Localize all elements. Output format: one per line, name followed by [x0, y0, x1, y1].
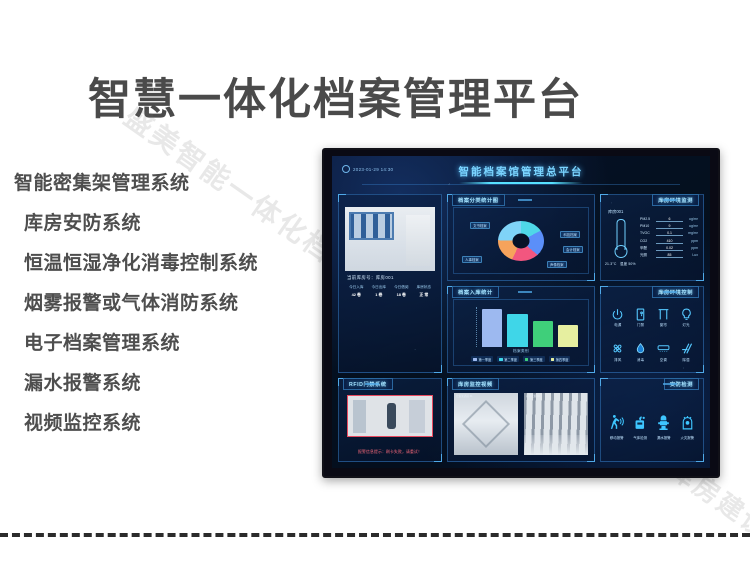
- surveillance-feeds: 密集架通道 01 库房走廊 02: [454, 393, 588, 455]
- control-label: 电源: [614, 322, 621, 327]
- control-label: 灯光: [683, 322, 690, 327]
- security-motion[interactable]: 移动报警: [605, 413, 629, 440]
- control-label: 消毒: [637, 357, 644, 362]
- room-photo: [345, 207, 435, 271]
- env-unit: ug/m³: [683, 217, 698, 221]
- bar: [533, 321, 553, 347]
- bar: [507, 314, 527, 347]
- dashboard-header: 2023-01-29 14:30 智能档案馆管理总平台: [332, 156, 710, 192]
- stat-key: 库房状态: [413, 285, 436, 290]
- env-reading-row: 甲醛 0.02 ppm: [640, 246, 698, 251]
- page-title: 智慧一体化档案管理平台: [88, 65, 688, 127]
- env-value: 9: [656, 224, 683, 229]
- panel-tick: [663, 383, 677, 385]
- temperature-value: 21.3°C: [605, 262, 617, 266]
- control-label: 窗帘: [660, 322, 667, 327]
- storage-chart-area: 档案类别 第一季度 第二季度 第三季度 第四季度: [453, 299, 589, 366]
- env-reading-row: PM2.5 6 ug/m³: [640, 217, 698, 222]
- legend-entry: 第二季度: [497, 356, 519, 362]
- env-value: 0.02: [656, 246, 683, 251]
- camera-feed-2[interactable]: 库房走廊 02: [524, 393, 588, 455]
- temperature-humidity: 21.3°C 湿度 50%: [605, 261, 636, 266]
- env-reading-row: TVOC 0.1 mg/m³: [640, 231, 698, 236]
- env-unit: ppm: [683, 246, 698, 250]
- door-right: [409, 400, 426, 434]
- env-reading-row: PM10 9 ug/m³: [640, 224, 698, 229]
- env-name: TVOC: [640, 231, 656, 235]
- donut-label: 声像档案: [547, 261, 567, 268]
- thermometer-bulb: [615, 245, 628, 258]
- env-name: 甲醛: [640, 246, 656, 251]
- monitor-frame: 2023-01-29 14:30 智能档案馆管理总平台 档案分类统计图 文书档案…: [322, 148, 720, 478]
- stat-key: 今日入库: [345, 285, 368, 290]
- legend-entry: 第三季度: [523, 356, 545, 362]
- panel-storage-stats: 档案入库统计 档案类别 第一季度 第二季度 第三季度 第四季度: [447, 286, 595, 373]
- security-label: 火灾报警: [680, 435, 694, 440]
- ac-icon: [657, 342, 670, 355]
- feature-item: 烟雾报警或气体消防系统: [14, 294, 334, 313]
- dashboard-title: 智能档案馆管理总平台: [332, 164, 710, 179]
- control-label: 除湿: [683, 357, 690, 362]
- control-power[interactable]: 电源: [607, 301, 629, 334]
- stat-key: 今日出库: [368, 285, 391, 290]
- panel-tick: [518, 291, 532, 293]
- bar: [482, 309, 502, 347]
- legend-label: 第三季度: [530, 357, 543, 362]
- humidity-icon: [634, 342, 647, 355]
- feature-item: 视频监控系统: [14, 414, 334, 433]
- panel-env-control: 库房环境控制 电源 门禁: [600, 286, 704, 373]
- light-icon: [680, 308, 693, 321]
- env-value: 410: [656, 239, 683, 244]
- control-label: 门禁: [637, 322, 644, 327]
- env-value: 0.1: [656, 231, 683, 236]
- fire-alarm-icon: [679, 413, 696, 432]
- legend-label: 第四季度: [556, 357, 569, 362]
- donut-label: 文书档案: [470, 222, 490, 229]
- panel-room-overview: 当前库房号：库房001 今日入库 42 卷 今日出库 1 卷 今日借阅 18 卷: [338, 194, 442, 373]
- env-name: CO2: [640, 239, 656, 243]
- panel-tick: [365, 383, 379, 385]
- bar: [558, 325, 578, 348]
- donut-ring: [498, 221, 544, 261]
- security-label: 气体检测: [633, 435, 647, 440]
- water-leak-icon: [655, 413, 672, 432]
- camera-label: 库房走廊 02: [526, 394, 540, 398]
- feature-list: 智能密集架管理系统 库房安防系统 恒温恒湿净化消毒控制系统 烟雾报警或气体消防系…: [14, 174, 334, 454]
- humidity-value: 湿度 50%: [620, 262, 636, 266]
- legend-label: 第二季度: [504, 357, 517, 362]
- panel-title-surveillance: 库房监控视频: [452, 378, 499, 390]
- security-fire-alarm[interactable]: 火灾报警: [675, 413, 699, 440]
- feature-item: 漏水报警系统: [14, 374, 334, 393]
- panel-rfid: RFID门禁系统 报警信息提示：刷卡失败，请重试！: [338, 378, 442, 462]
- stat-item: 今日借阅 18 卷: [390, 285, 413, 298]
- control-grid: 电源 门禁 窗帘: [607, 301, 697, 368]
- security-gas[interactable]: 气体检测: [628, 413, 652, 440]
- feature-item: 电子档案管理系统: [14, 334, 334, 353]
- door-access-icon: [634, 308, 647, 321]
- legend-label: 第一季度: [478, 357, 491, 362]
- panel-tick: [518, 199, 532, 201]
- env-unit: mg/m³: [683, 231, 698, 235]
- control-door-access[interactable]: 门禁: [630, 301, 652, 334]
- stat-item: 库房状态 正 常: [413, 285, 436, 298]
- corridor-view: [454, 393, 518, 455]
- stat-value: 42 卷: [345, 292, 368, 298]
- rfid-camera-feed[interactable]: [347, 395, 433, 437]
- env-name: 光照: [640, 253, 656, 258]
- env-room-label: 库房001: [608, 209, 623, 215]
- env-unit: ppm: [683, 239, 698, 243]
- door-left: [353, 400, 366, 434]
- dashboard-screen: 2023-01-29 14:30 智能档案馆管理总平台 档案分类统计图 文书档案…: [332, 156, 710, 468]
- security-label: 漏水报警: [657, 435, 671, 440]
- control-light[interactable]: 灯光: [675, 301, 697, 334]
- env-reading-row: 光照 85 Lux: [640, 253, 698, 258]
- control-disinfect[interactable]: 消毒: [630, 335, 652, 368]
- room-stats: 今日入库 42 卷 今日出库 1 卷 今日借阅 18 卷 库房状态 正 常: [345, 285, 435, 298]
- control-curtain[interactable]: 窗帘: [652, 301, 674, 334]
- panel-surveillance: 库房监控视频 密集架通道 01 库房走廊 02: [447, 378, 595, 462]
- motion-sensor-icon: [608, 413, 625, 432]
- security-water-leak[interactable]: 漏水报警: [652, 413, 676, 440]
- donut-label: 科技档案: [560, 231, 580, 238]
- stat-value: 正 常: [413, 292, 436, 298]
- camera-feed-1[interactable]: 密集架通道 01: [454, 393, 518, 455]
- env-value: 6: [656, 217, 683, 222]
- panel-env-monitor: 库房环境监测 库房001 21.3°C 湿度 50% PM2.5 6 ug: [600, 194, 704, 281]
- panel-title-storage: 档案入库统计: [452, 286, 499, 298]
- curtain-icon: [657, 308, 670, 321]
- stat-key: 今日借阅: [390, 285, 413, 290]
- dashboard-grid: 档案分类统计图 文书档案 科技档案 会计档案 人事档案 声像档案 当前库房号：: [338, 194, 704, 462]
- panel-classification: 档案分类统计图 文书档案 科技档案 会计档案 人事档案 声像档案: [447, 194, 595, 281]
- panel-tick: [663, 199, 677, 201]
- bar-chart[interactable]: [476, 307, 578, 347]
- env-name: PM10: [640, 224, 656, 228]
- legend-entry: 第四季度: [549, 356, 571, 362]
- bar-xlabel: 档案类别: [454, 349, 588, 354]
- env-reading-row: CO2 410 ppm: [640, 239, 698, 244]
- stat-value: 1 卷: [368, 292, 391, 298]
- person-figure: [387, 403, 396, 429]
- dashed-divider: [0, 533, 750, 537]
- panel-title-classification: 档案分类统计图: [452, 194, 505, 206]
- camera-label: 密集架通道 01: [456, 394, 473, 398]
- control-ac[interactable]: 空调: [652, 335, 674, 368]
- env-name: PM2.5: [640, 217, 656, 221]
- room-caption: 当前库房号：库房001: [347, 275, 394, 281]
- rfid-alert-text: 报警信息提示：刷卡失败，请重试！: [345, 450, 435, 455]
- fan-icon: [611, 342, 624, 355]
- control-fan[interactable]: 排风: [607, 335, 629, 368]
- title-underline: [459, 182, 583, 184]
- donut-chart[interactable]: 文书档案 科技档案 会计档案 人事档案 声像档案: [454, 208, 588, 273]
- panel-tick: [663, 291, 677, 293]
- power-icon: [611, 308, 624, 321]
- env-unit: ug/m³: [683, 224, 698, 228]
- shelving-view: [524, 393, 588, 455]
- thermometer-icon: [615, 219, 628, 259]
- security-label: 移动报警: [610, 435, 624, 440]
- classification-chart-area: 文书档案 科技档案 会计档案 人事档案 声像档案: [453, 207, 589, 274]
- env-unit: Lux: [683, 253, 698, 257]
- feature-item: 库房安防系统: [14, 214, 334, 233]
- control-label: 空调: [660, 357, 667, 362]
- panel-security-detect: 安防检测 移动报警: [600, 378, 704, 462]
- donut-label: 会计档案: [563, 246, 583, 253]
- legend-entry: 第一季度: [471, 356, 493, 362]
- stat-value: 18 卷: [390, 292, 413, 298]
- dehumidify-icon: [680, 342, 693, 355]
- stat-item: 今日入库 42 卷: [345, 285, 368, 298]
- env-value: 85: [656, 253, 683, 258]
- control-dehumidify[interactable]: 除湿: [675, 335, 697, 368]
- gas-sensor-icon: [632, 413, 649, 432]
- donut-label: 人事档案: [462, 256, 482, 263]
- security-grid: 移动报警 气体检测: [605, 395, 699, 457]
- control-label: 排风: [614, 357, 621, 362]
- stat-item: 今日出库 1 卷: [368, 285, 391, 298]
- env-readings: PM2.5 6 ug/m³ PM10 9 ug/m³ TVOC 0.1 mg/m…: [640, 217, 698, 260]
- feature-item: 恒温恒湿净化消毒控制系统: [14, 254, 334, 273]
- feature-item: 智能密集架管理系统: [14, 174, 334, 193]
- bar-legend: 第一季度 第二季度 第三季度 第四季度: [458, 356, 584, 362]
